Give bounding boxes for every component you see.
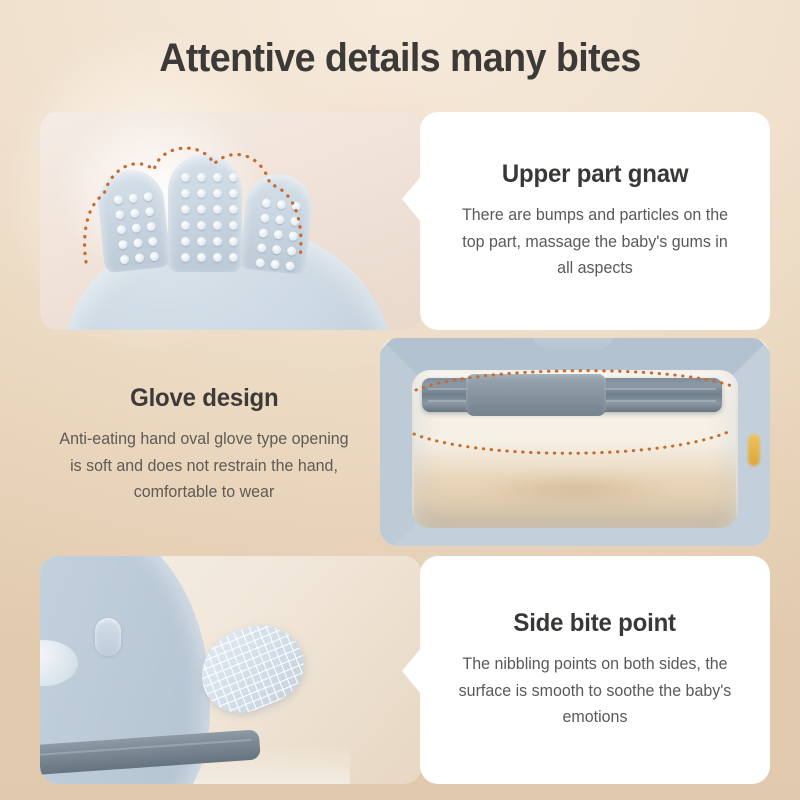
glove-frame-shading — [380, 338, 770, 546]
glove-accent-strap — [748, 434, 760, 466]
panel-heading: Upper part gnaw — [502, 160, 688, 189]
photo-side-bite-point — [40, 556, 422, 784]
bump-grid-right — [253, 196, 303, 273]
panel-body: There are bumps and particles on the top… — [454, 202, 735, 282]
panel-heading: Glove design — [130, 384, 278, 413]
panel-heading: Side bite point — [514, 609, 676, 638]
bump-grid-left — [111, 190, 161, 267]
infographic-page: Attentive details many bites — [0, 0, 800, 800]
panel-glove-design: Glove design Anti-eating hand oval glove… — [36, 360, 372, 530]
panel-body: Anti-eating hand oval glove type opening… — [54, 426, 355, 506]
panel-side-bite-point: Side bite point The nibbling points on b… — [420, 556, 770, 784]
photo-glove-design — [380, 338, 770, 546]
teether-oval-button — [95, 618, 121, 656]
bump-grid-center — [178, 170, 240, 264]
photo-upper-part-gnaw — [40, 112, 422, 330]
glove-grip-notch — [466, 374, 606, 416]
panel-body: The nibbling points on both sides, the s… — [454, 651, 735, 731]
crown-lobe-center — [168, 154, 242, 272]
page-title: Attentive details many bites — [24, 36, 776, 81]
panel-upper-part-gnaw: Upper part gnaw There are bumps and part… — [420, 112, 770, 330]
